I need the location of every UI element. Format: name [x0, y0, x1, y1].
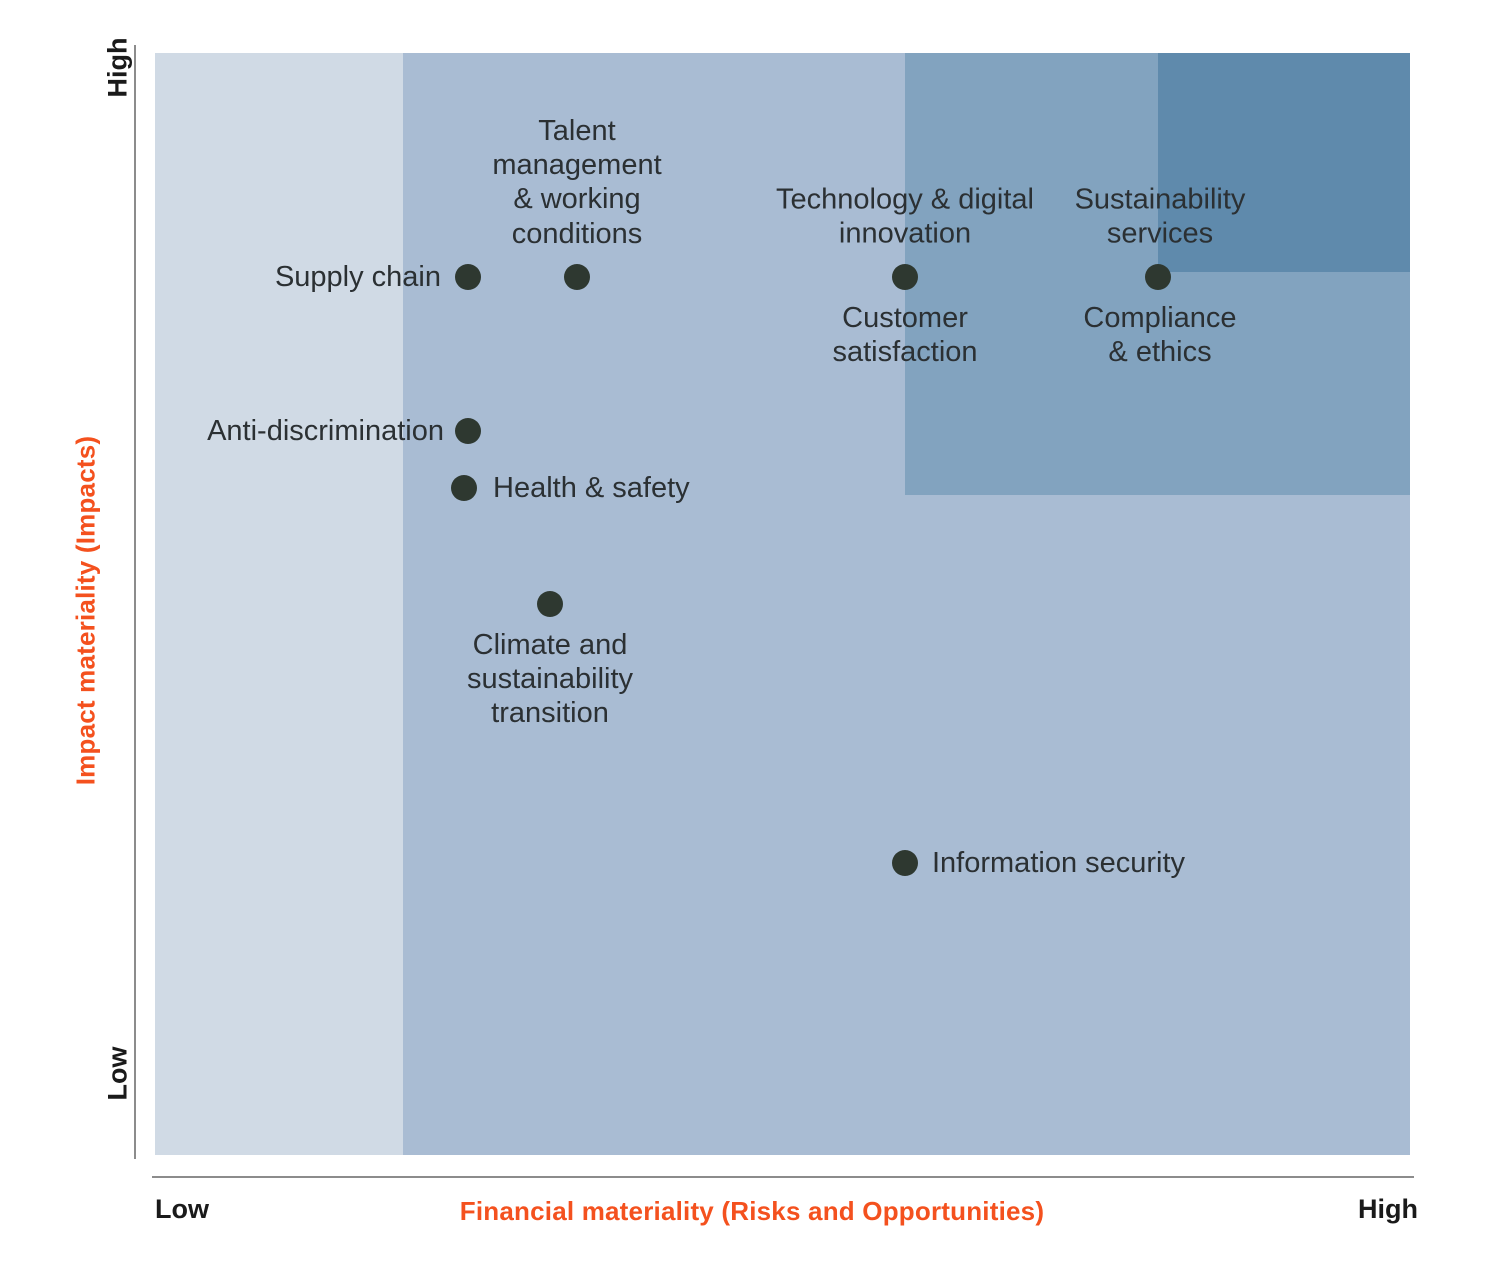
x-axis-tick-high: High	[1358, 1194, 1418, 1225]
materiality-matrix-chart: Impact materiality (Impacts) Financial m…	[0, 0, 1504, 1273]
data-point-label-technology-digital: Technology & digital innovation	[776, 183, 1034, 251]
data-point-label-information-security: Information security	[932, 846, 1185, 880]
data-point-label-supply-chain: Supply chain	[275, 260, 441, 294]
x-axis-title: Financial materiality (Risks and Opportu…	[0, 1196, 1504, 1227]
data-point-label-health-safety: Health & safety	[493, 471, 690, 505]
y-axis-tick-low: Low	[103, 1019, 134, 1129]
x-axis-line	[152, 1176, 1414, 1178]
x-axis-tick-low: Low	[155, 1194, 209, 1225]
data-point-technology-digital[interactable]	[892, 264, 918, 290]
data-point-supply-chain[interactable]	[455, 264, 481, 290]
data-point-climate-sustainability[interactable]	[537, 591, 563, 617]
y-axis-tick-high: High	[103, 13, 134, 123]
data-point-label-sustainability-services: Sustainability services	[1075, 183, 1246, 251]
data-point-label-climate-sustainability: Climate and sustainability transition	[467, 628, 633, 731]
data-point-information-security[interactable]	[892, 850, 918, 876]
y-axis-title: Impact materiality (Impacts)	[71, 261, 102, 961]
data-point-talent-management[interactable]	[564, 264, 590, 290]
shade-band-level-1-lower	[403, 936, 1410, 1155]
data-point-anti-discrimination[interactable]	[455, 418, 481, 444]
data-point-health-safety[interactable]	[451, 475, 477, 501]
y-axis-line	[134, 45, 136, 1159]
data-point-label-customer-satisfaction: Customer satisfaction	[832, 301, 977, 369]
data-point-label-talent-management: Talent management & working conditions	[492, 114, 661, 251]
data-point-label-anti-discrimination: Anti-discrimination	[207, 414, 444, 448]
data-point-sustainability-services[interactable]	[1145, 264, 1171, 290]
data-point-label-compliance-ethics: Compliance & ethics	[1083, 301, 1236, 369]
